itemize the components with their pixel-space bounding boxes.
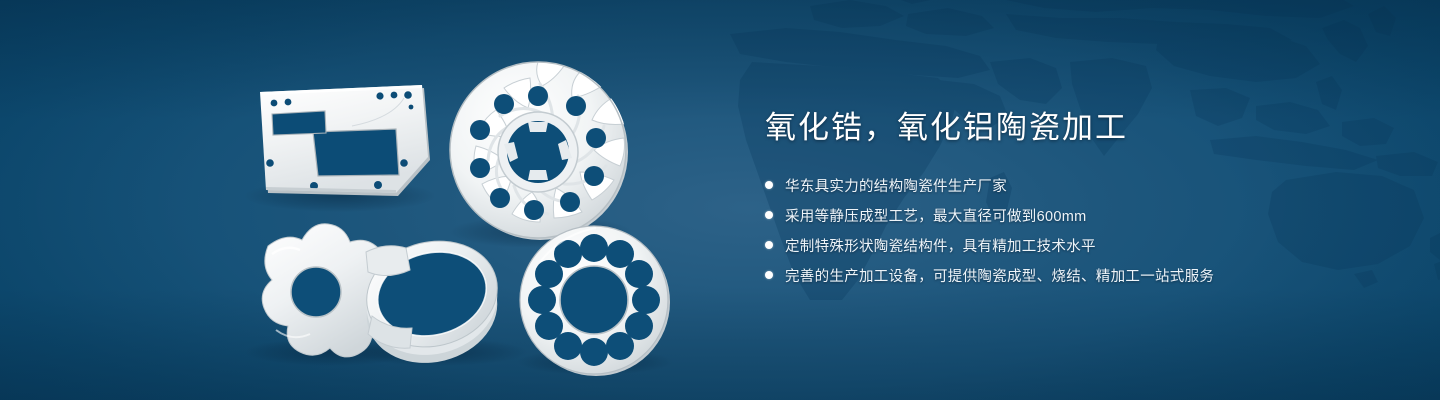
product-perforated-ring [520,226,670,376]
promo-banner: 氧化锆，氧化铝陶瓷加工 华东具实力的结构陶瓷件生产厂家 采用等静压成型工艺，最大… [0,0,1440,400]
bullet-item-3: 定制特殊形状陶瓷结构件，具有精加工技术水平 [765,234,1385,256]
banner-bullet-list: 华东具实力的结构陶瓷件生产厂家 采用等静压成型工艺，最大直径可做到600mm 定… [765,174,1385,286]
bullet-dot-icon [765,211,773,219]
bullet-text: 采用等静压成型工艺，最大直径可做到600mm [785,205,1086,226]
bullet-dot-icon [765,181,773,189]
bullet-text: 定制特殊形状陶瓷结构件，具有精加工技术水平 [785,235,1096,256]
product-ceramic-impeller [450,61,628,240]
product-ceramic-plate [260,85,430,196]
bullet-text: 华东具实力的结构陶瓷件生产厂家 [785,175,1007,196]
bullet-item-2: 采用等静压成型工艺，最大直径可做到600mm [765,204,1385,226]
bullet-dot-icon [765,271,773,279]
bullet-item-4: 完善的生产加工设备，可提供陶瓷成型、烧结、精加工一站式服务 [765,264,1385,286]
ceramic-products-image [0,0,720,400]
banner-copy: 氧化锆，氧化铝陶瓷加工 华东具实力的结构陶瓷件生产厂家 采用等静压成型工艺，最大… [765,108,1385,294]
bullet-dot-icon [765,241,773,249]
bullet-item-1: 华东具实力的结构陶瓷件生产厂家 [765,174,1385,196]
bullet-text: 完善的生产加工设备，可提供陶瓷成型、烧结、精加工一站式服务 [785,265,1214,286]
banner-headline: 氧化锆，氧化铝陶瓷加工 [765,108,1385,148]
